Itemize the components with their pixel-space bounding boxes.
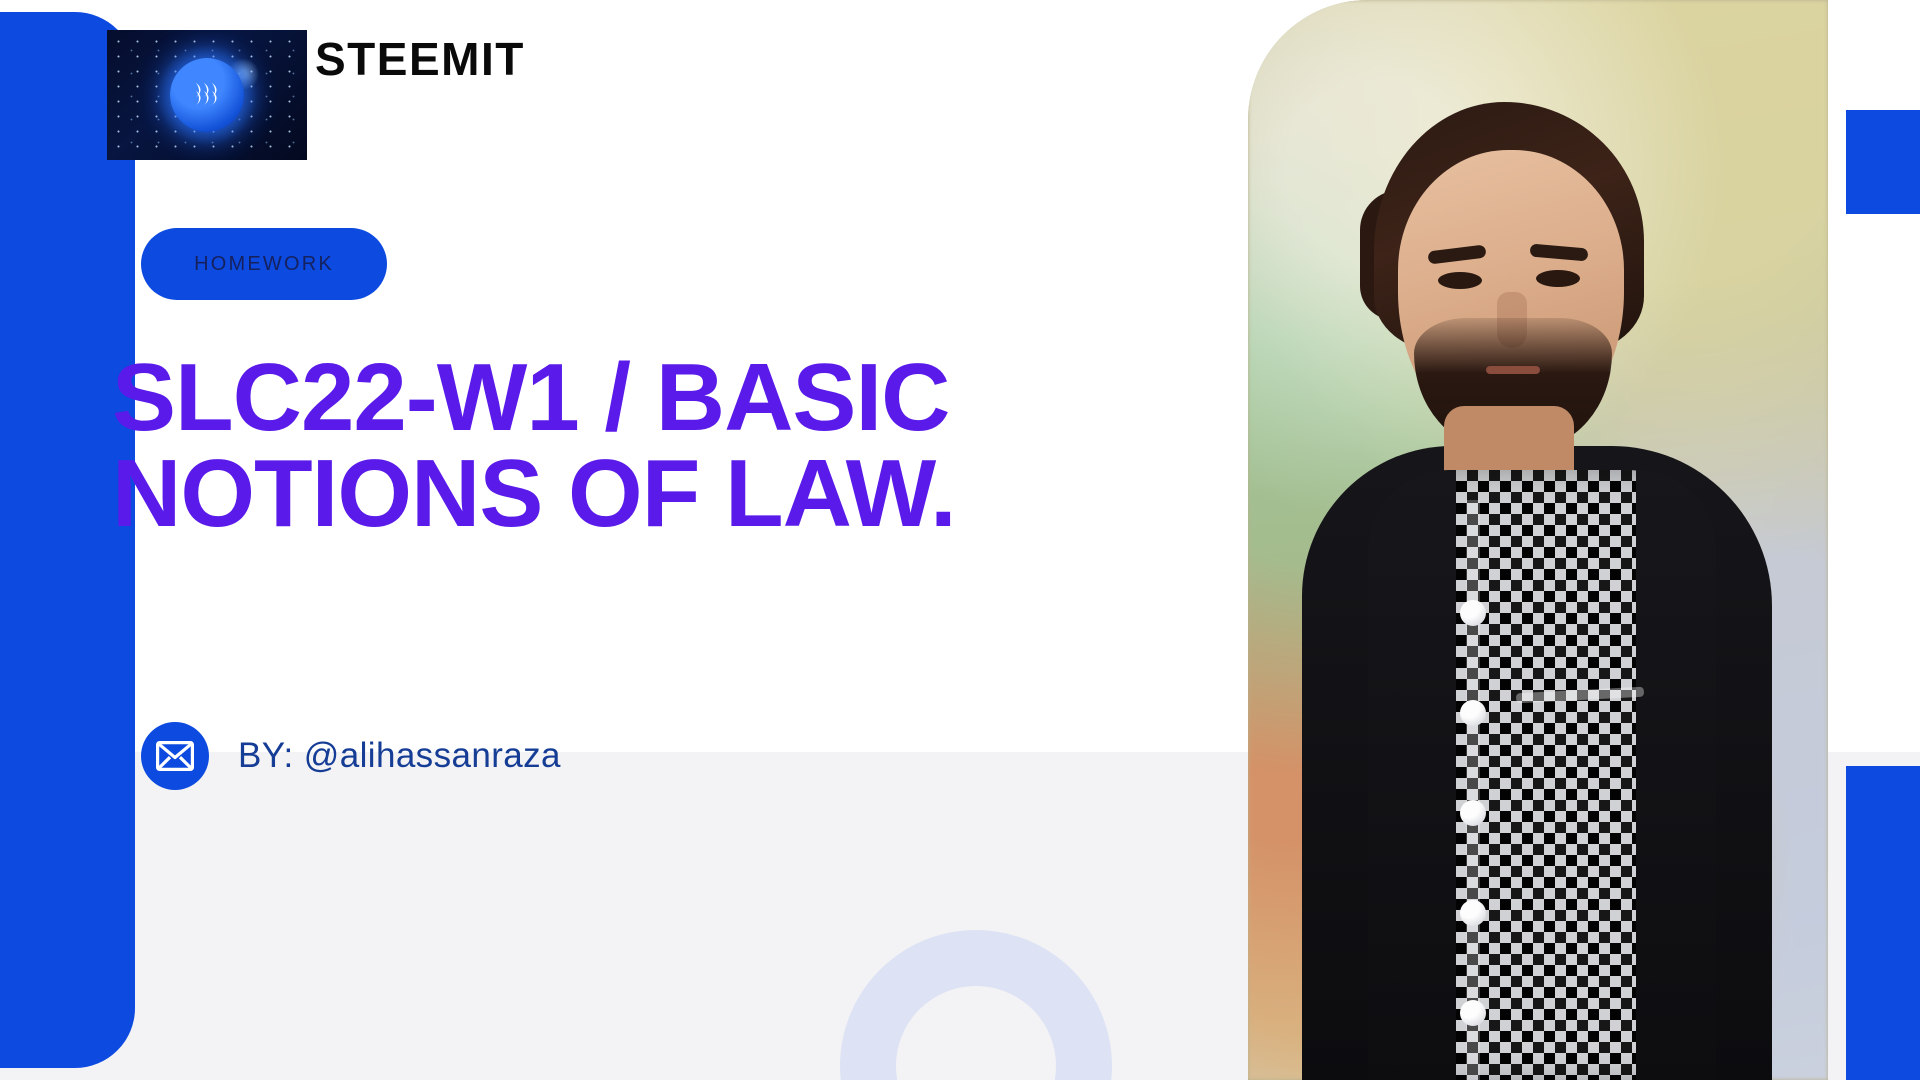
steemit-logo-icon (107, 30, 307, 160)
photo-button (1460, 1000, 1486, 1026)
byline: BY: @alihassanraza (141, 722, 561, 790)
steem-coin-icon (170, 58, 244, 132)
brand-logo (107, 30, 307, 160)
homework-badge[interactable]: HOMEWORK (141, 228, 387, 300)
photo-button (1460, 600, 1486, 626)
envelope-glyph-icon (156, 741, 194, 771)
photo-waistcoat-edge-left (1368, 470, 1456, 1080)
right-blue-block-bottom (1846, 766, 1920, 1080)
photo-button (1460, 700, 1486, 726)
photo-button (1460, 800, 1486, 826)
photo-waistcoat-placket (1466, 500, 1480, 1080)
photo-mouth (1486, 366, 1540, 374)
photo-eye-left (1438, 272, 1482, 289)
homework-badge-label: HOMEWORK (194, 253, 334, 276)
page-title: SLC22-W1 / BASIC NOTIONS OF LAW. (112, 350, 1012, 542)
photo-button (1460, 900, 1486, 926)
author-photo (1248, 0, 1828, 1080)
brand-name: STEEMIT (315, 36, 525, 82)
right-blue-block-top (1846, 110, 1920, 214)
photo-waistcoat-edge-right (1636, 470, 1716, 1080)
byline-text: BY: @alihassanraza (238, 736, 561, 776)
envelope-icon (141, 722, 209, 790)
photo-eye-right (1536, 270, 1580, 287)
steem-glyph-icon (187, 75, 227, 115)
cover-canvas: STEEMIT HOMEWORK SLC22-W1 / BASIC NOTION… (0, 0, 1920, 1080)
